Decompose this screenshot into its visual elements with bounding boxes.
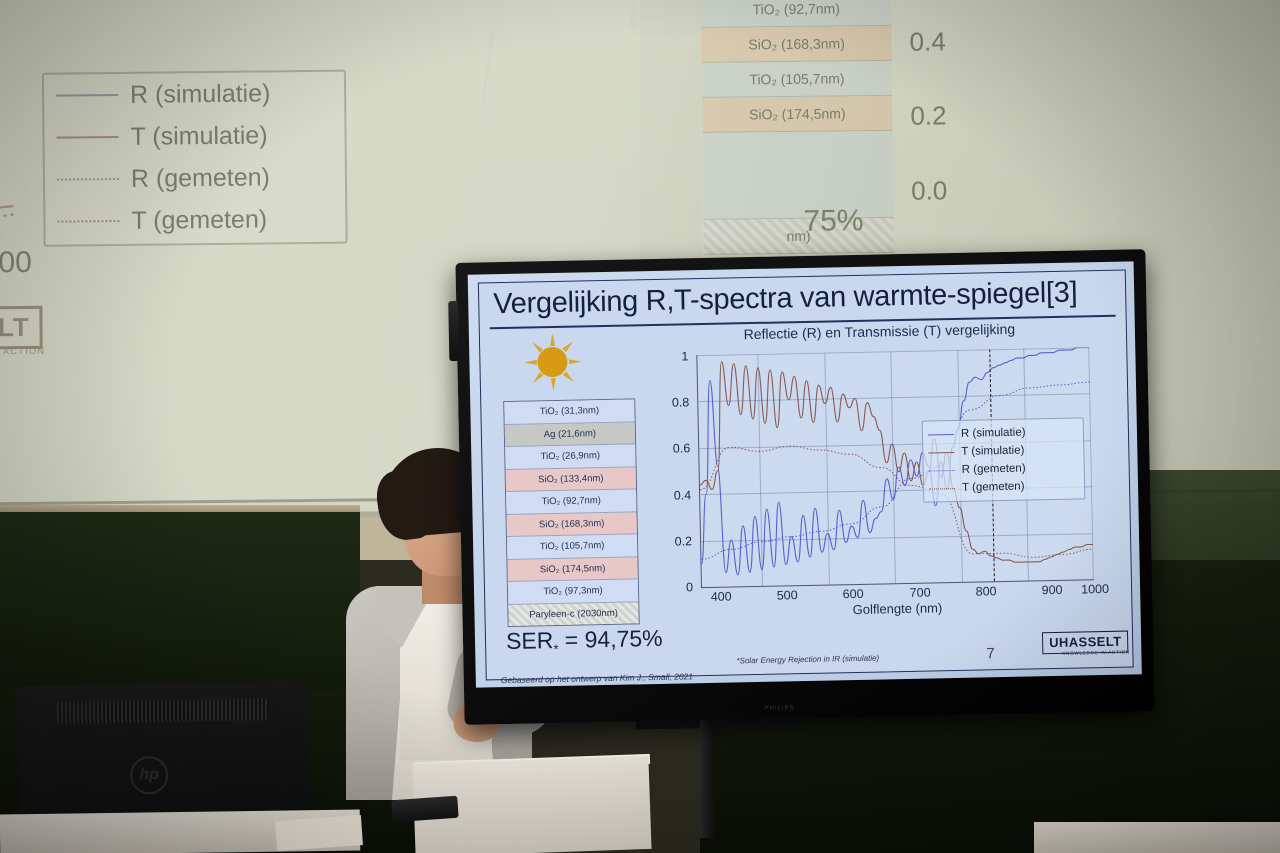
y-tick: 0.2 [656,534,692,549]
ser-asterisk: * [553,642,558,657]
tv-brand-label: PHILIPS [764,705,794,712]
projection-uhasselt-logo: UHASSELT [0,306,43,351]
ser-value: SER* = 94,75% [506,625,663,658]
spectra-chart: Reflectie (R) en Transmissie (T) vergeli… [652,339,1113,631]
stack-layer: TiO₂ (92,7nm) [701,0,891,28]
legend-label: T (simulatie) [130,121,267,151]
paper-sheet [275,815,363,851]
x-tick: 800 [966,584,1006,599]
legend-swatch-t-sim [57,136,119,139]
legend-label: R (gemeten) [131,163,270,193]
ser-number: = 94,75% [565,625,663,653]
x-tick: 1000 [0,246,32,281]
y-tick: 0.8 [653,395,689,410]
legend-row: R (simulatie) [44,72,344,117]
hp-logo: hp [130,756,169,795]
ser-label: SER [506,627,554,654]
legend-label: R (gemeten) [962,463,1026,476]
legend-row: T (simulatie) [44,114,344,159]
display-tv: Vergelijking R,T-spectra van warmte-spie… [455,249,1154,725]
legend-swatch-r-sim [56,94,118,97]
logo-text: UHASSELT [0,312,30,344]
legend-label: R (simulatie) [130,79,271,109]
stack-layer-sio2-3: SiO₂ (174,5nm) [507,557,637,582]
legend-row: T (gemeten) [929,477,1079,498]
logo-text: UHASSELT [1049,634,1122,650]
stack-layer [703,131,894,220]
projection-x-ticks: 800 900 1000 [0,246,40,284]
slide-title: Vergelijking R,T-spectra van warmte-spie… [493,276,1078,321]
slide-logo-tagline: KNOWLEDGE IN ACTION [1062,650,1130,656]
stack-layer-sio2-2: SiO₂ (168,3nm) [506,512,636,537]
stack-layer-tio2-3: TiO₂ (92,7nm) [506,489,636,514]
y-tick: 0.4 [909,26,969,58]
legend-swatch-r-sim [928,433,954,435]
stack-layer-ag: Ag (21,6nm) [505,422,635,447]
layer-stack: TiO₂ (31,3nm) Ag (21,6nm) TiO₂ (26,9nm) … [503,398,640,627]
legend-swatch-t-sim [928,451,954,453]
stack-layer: SiO₂ (174,5nm) [702,96,892,133]
y-tick: 0.4 [655,488,691,503]
x-axis-label: Golflengte (nm) [701,597,1093,620]
y-tick: 0 [657,580,693,595]
projection-curves [0,0,34,271]
x-tick: 500 [767,588,807,603]
stack-layer-sio2-1: SiO₂ (133,4nm) [506,467,636,492]
legend-swatch-r-meas [57,178,119,181]
lecture-hall-scene: R (simulatie) T (simulatie) R (gemeten) … [0,0,1280,853]
slide-page-number: 7 [986,645,995,662]
projection-y-ticks: 0.8 0.6 0.4 0.2 0.0 [908,0,971,207]
stack-layer-parylene: Paryleen-c (2030nm) [508,602,638,626]
tv-screen[interactable]: Vergelijking R,T-spectra van warmte-spie… [468,261,1142,687]
right-desk [1034,822,1280,853]
legend-row: R (gemeten) [45,156,345,201]
x-tick: 900 [1032,583,1072,598]
y-tick: 0.0 [911,175,971,207]
legend-label: T (gemeten) [962,481,1025,494]
slide-source-note: Gebaseerd op het ontwerp van Kim J., Sma… [501,671,693,685]
legend-row: T (gemeten) [45,198,345,243]
y-tick: 1 [652,349,688,364]
presenter-hair-side [373,467,434,544]
legend-label: T (gemeten) [131,205,267,235]
legend-swatch-r-meas [929,469,955,471]
slide-footnote: *Solar Energy Rejection in IR (simulatie… [736,654,879,666]
legend-swatch-t-meas [57,220,119,223]
stack-layer-tio2-2: TiO₂ (26,9nm) [505,444,635,469]
x-tick: 600 [833,587,873,602]
chart-legend: R (simulatie) T (simulatie) R (gemeten) … [922,417,1086,502]
desk-remote [391,796,458,823]
projection-layer-stack: TiO₂ (31,3nm) Ag (21,6nm) TiO₂ (26,9nm) … [700,0,894,255]
x-tick: 400 [701,589,741,604]
projection-logo-tagline: KNOWLEDGE IN ACTION [0,346,45,357]
stack-layer-tio2-4: TiO₂ (105,7nm) [507,534,637,559]
legend-label: R (simulatie) [961,427,1026,440]
stack-layer: SiO₂ (168,3nm) [701,26,891,63]
x-tick: 700 [900,585,940,600]
projection-ser-value: 75% [803,204,863,239]
stack-layer-tio2-1: TiO₂ (31,3nm) [504,399,634,424]
legend-label: T (simulatie) [961,445,1024,458]
y-tick: 0.6 [654,441,690,456]
x-tick: 1000 [1075,582,1115,597]
stack-layer: TiO₂ (105,7nm) [702,61,892,98]
sun-icon [524,333,581,390]
projection-legend: R (simulatie) T (simulatie) R (gemeten) … [42,70,348,247]
stack-layer-tio2-5: TiO₂ (97,3nm) [508,579,638,604]
chalkboard [0,512,360,702]
monitor-vent [57,698,269,724]
legend-swatch-t-meas [929,487,955,489]
tv-stand-pole [700,718,714,838]
tv-side-buttons[interactable] [448,301,459,361]
y-tick: 0.2 [910,100,970,132]
stack-layer: nm) [703,218,893,255]
presentation-slide: Vergelijking R,T-spectra van warmte-spie… [478,270,1134,681]
